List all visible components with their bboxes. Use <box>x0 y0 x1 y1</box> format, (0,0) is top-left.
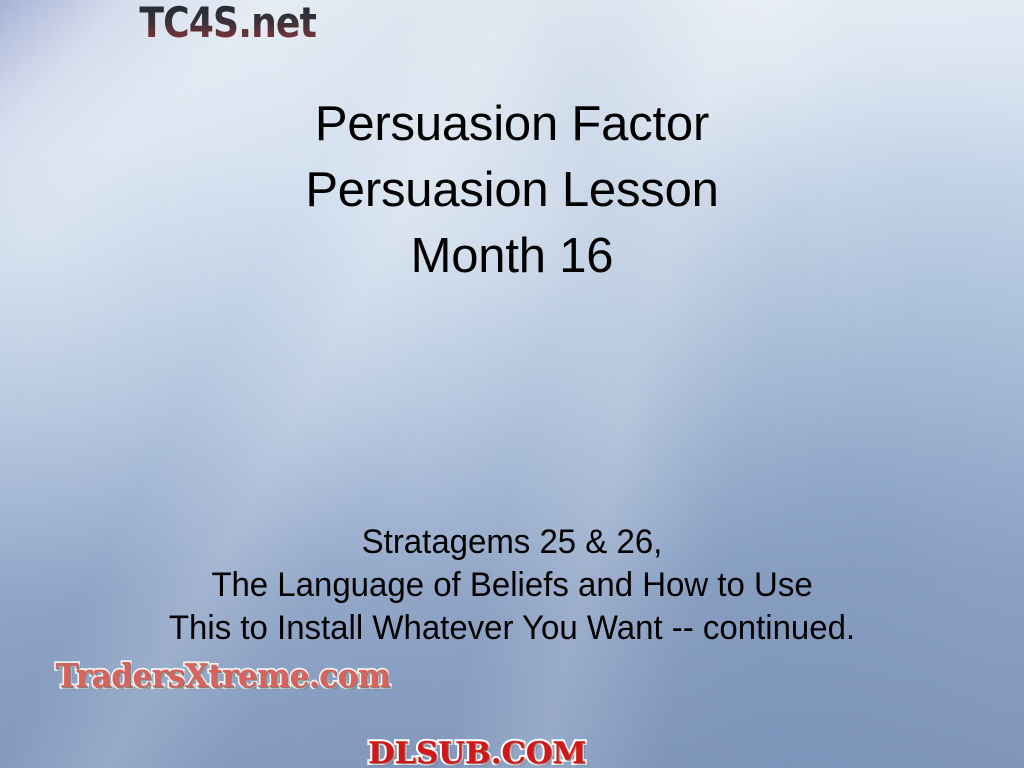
tc4s-logo: TC4S.net <box>139 0 1020 47</box>
title-line-3: Month 16 <box>0 223 1024 289</box>
subtitle-line-1: Stratagems 25 & 26, <box>15 521 1008 564</box>
dlsub-watermark: DLSUB.COM <box>368 736 1024 768</box>
title-line-1: Persuasion Factor <box>0 91 1024 157</box>
slide-title: Persuasion Factor Persuasion Lesson Mont… <box>0 91 1024 289</box>
subtitle-line-3: This to Install Whatever You Want -- con… <box>15 607 1008 650</box>
title-line-2: Persuasion Lesson <box>0 157 1024 223</box>
slide-subtitle: Stratagems 25 & 26, The Language of Beli… <box>15 521 1008 650</box>
tradersxtreme-logo: TradersXtreme.com <box>55 656 1018 695</box>
presentation-slide: TC4S.net Persuasion Factor Persuasion Le… <box>0 0 1024 768</box>
subtitle-line-2: The Language of Beliefs and How to Use <box>15 564 1008 607</box>
